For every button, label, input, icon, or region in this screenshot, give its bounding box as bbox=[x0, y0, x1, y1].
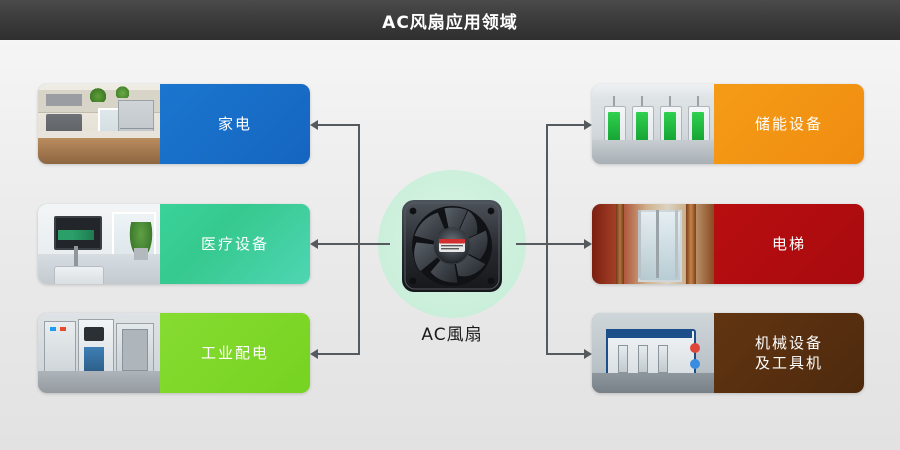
arrow-left-2 bbox=[310, 239, 318, 249]
thumbnail-elevator bbox=[592, 204, 714, 284]
connector-left-stub bbox=[358, 243, 390, 245]
thumbnail-machine-tool bbox=[592, 313, 714, 393]
thumbnail-kitchen bbox=[38, 84, 160, 164]
connector-right-leg-3 bbox=[546, 353, 584, 355]
arrow-right-1 bbox=[584, 120, 592, 130]
thumbnail-electrical-cabinet bbox=[38, 313, 160, 393]
thumbnail-hospital-room bbox=[38, 204, 160, 284]
card-industrial-power[interactable]: 工业配电 bbox=[38, 313, 310, 393]
card-medical-equipment[interactable]: 医疗设备 bbox=[38, 204, 310, 284]
arrow-right-3 bbox=[584, 349, 592, 359]
card-elevator[interactable]: 电梯 bbox=[592, 204, 864, 284]
diagram-canvas: AC风扇应用领域 家电 医疗设 bbox=[0, 0, 900, 450]
connector-left-leg-1 bbox=[318, 124, 360, 126]
arrow-left-1 bbox=[310, 120, 318, 130]
title-bar: AC风扇应用领域 bbox=[0, 0, 900, 40]
thumbnail-battery-storage bbox=[592, 84, 714, 164]
connector-right-leg-2 bbox=[546, 243, 584, 245]
card-label-elevator: 电梯 bbox=[714, 234, 864, 254]
axial-fan-icon bbox=[398, 196, 506, 296]
center-label: AC風扇 bbox=[378, 320, 526, 345]
card-label-industrial-power: 工业配电 bbox=[160, 343, 310, 363]
arrow-left-3 bbox=[310, 349, 318, 359]
card-home-appliances[interactable]: 家电 bbox=[38, 84, 310, 164]
card-machinery-tools[interactable]: 机械设备 及工具机 bbox=[592, 313, 864, 393]
card-label-machinery-tools: 机械设备 及工具机 bbox=[714, 333, 864, 374]
connector-right-leg-1 bbox=[546, 124, 584, 126]
card-label-home-appliances: 家电 bbox=[160, 114, 310, 134]
card-label-medical-equipment: 医疗设备 bbox=[160, 234, 310, 254]
page-title: AC风扇应用领域 bbox=[382, 8, 518, 33]
connector-right-spine bbox=[546, 124, 548, 355]
arrow-right-2 bbox=[584, 239, 592, 249]
card-energy-storage[interactable]: 储能设备 bbox=[592, 84, 864, 164]
connector-left-leg-3 bbox=[318, 353, 360, 355]
connector-left-leg-2 bbox=[318, 243, 360, 245]
card-label-energy-storage: 储能设备 bbox=[714, 114, 864, 134]
connector-right-stub bbox=[516, 243, 548, 245]
connector-left-spine bbox=[358, 124, 360, 355]
